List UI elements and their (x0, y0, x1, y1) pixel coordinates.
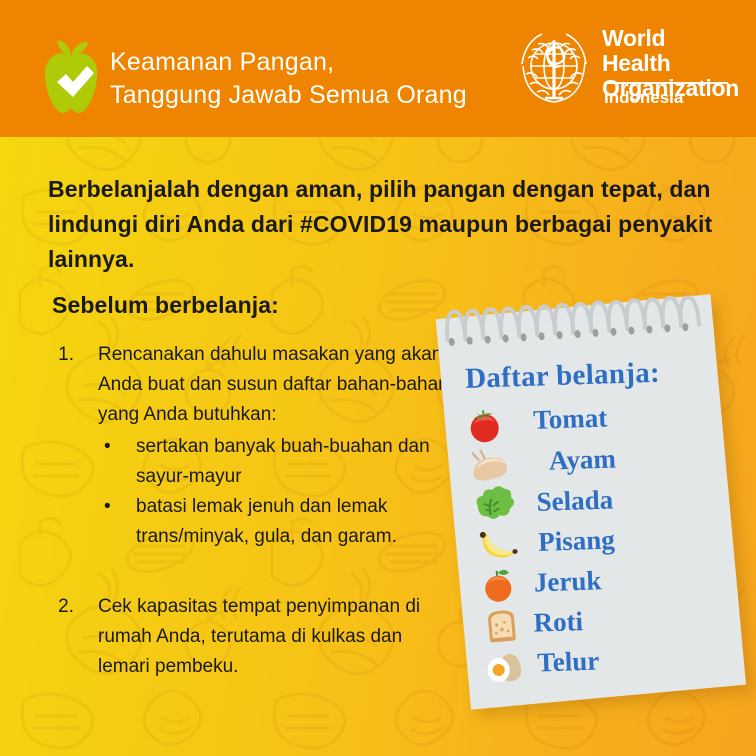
list-item-label: Selada (536, 484, 613, 517)
banana-icon (471, 523, 520, 567)
step-item: 1. Rencanakan dahulu masakan yang akan A… (40, 340, 450, 552)
step-item: 2. Cek kapasitas tempat penyimpanan di r… (40, 592, 440, 682)
bullet-item: • batasi lemak jenuh dan lemak trans/min… (96, 492, 450, 552)
section-subheading: Sebelum berbelanja: (52, 292, 279, 319)
bullet-text: batasi lemak jenuh dan lemak trans/minya… (136, 496, 397, 547)
lettuce-icon (467, 483, 516, 527)
notepad-items: Tomat Ayam Selada (460, 385, 734, 687)
shopping-list-notepad: Daftar belanja: Tomat Ayam (434, 276, 746, 709)
who-country: Indonesia (604, 88, 683, 108)
step-text: Rencanakan dahulu masakan yang akan Anda… (98, 340, 450, 430)
bread-icon (478, 602, 527, 646)
orange-icon (474, 563, 523, 607)
list-item-label: Jeruk (533, 565, 601, 598)
steps-list: 1. Rencanakan dahulu masakan yang akan A… (40, 340, 450, 566)
bullet-glyph: • (104, 492, 111, 522)
bullet-glyph: • (104, 432, 111, 462)
list-item-label: Roti (533, 606, 583, 639)
step-bullets: • sertakan banyak buah-buahan dan sayur-… (96, 432, 450, 552)
header-title: Keamanan Pangan, Tanggung Jawab Semua Or… (110, 46, 467, 112)
list-item-label: Telur (537, 646, 600, 679)
header-bar: Keamanan Pangan, Tanggung Jawab Semua Or… (0, 0, 756, 137)
chicken-icon (463, 443, 512, 487)
bullet-item: • sertakan banyak buah-buahan dan sayur-… (96, 432, 450, 492)
step-number: 1. (40, 340, 74, 370)
who-logo: World Health Organization Indonesia (512, 24, 732, 118)
green-apple-check-icon (42, 38, 100, 116)
bullet-text: sertakan banyak buah-buahan dan sayur-ma… (136, 436, 430, 487)
tomato-icon (460, 403, 509, 447)
step-text: Cek kapasitas tempat penyimpanan di ruma… (98, 592, 440, 682)
list-item-label: Pisang (538, 524, 615, 557)
list-item-label: Tomat (533, 403, 608, 436)
poster-canvas: Keamanan Pangan, Tanggung Jawab Semua Or… (0, 0, 756, 756)
who-divider (604, 82, 728, 84)
notepad-title: Daftar belanja: (465, 357, 661, 396)
who-emblem-icon (512, 26, 596, 110)
step-number: 2. (40, 592, 74, 622)
list-item-label: Ayam (548, 443, 616, 476)
egg-icon (481, 642, 530, 686)
lede-paragraph: Berbelanjalah dengan aman, pilih pangan … (48, 172, 724, 277)
